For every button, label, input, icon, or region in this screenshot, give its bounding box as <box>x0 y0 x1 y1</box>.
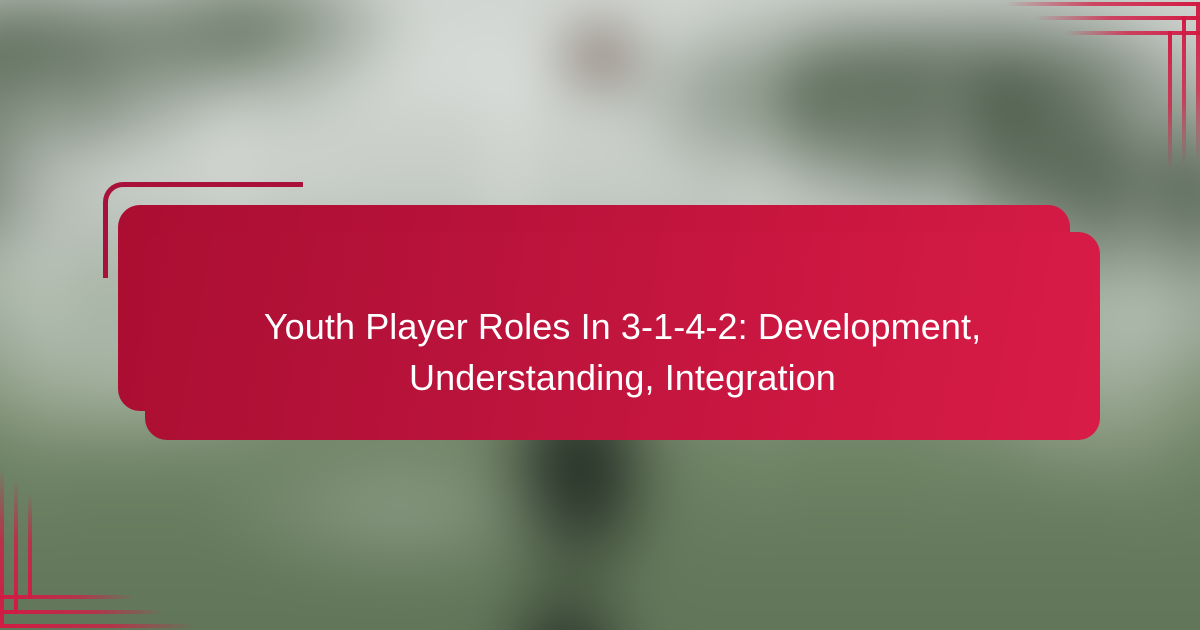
banner-canvas: Youth Player Roles In 3-1-4-2: Developme… <box>0 0 1200 630</box>
title-card-front: Youth Player Roles In 3-1-4-2: Developme… <box>145 232 1100 440</box>
page-title: Youth Player Roles In 3-1-4-2: Developme… <box>193 301 1053 403</box>
